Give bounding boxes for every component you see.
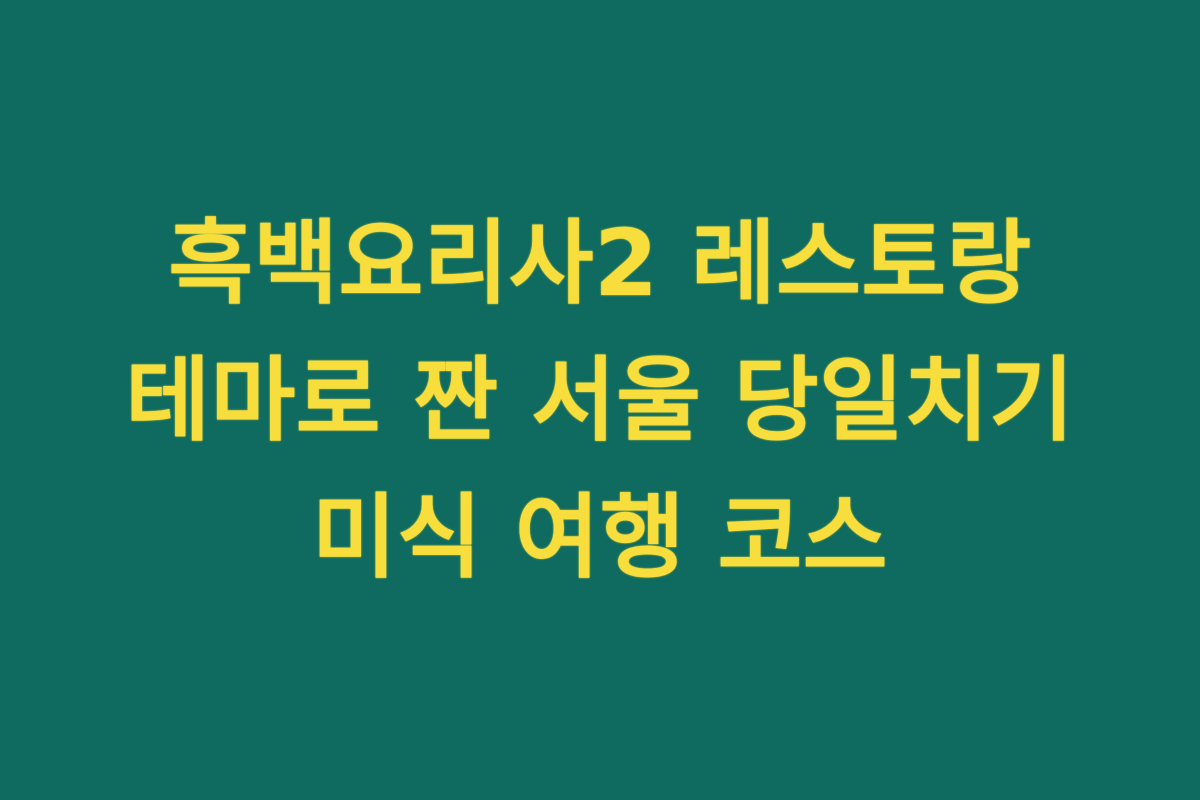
title-line-1: 흑백요리사2 레스토랑 bbox=[24, 195, 1176, 332]
banner-canvas: 흑백요리사2 레스토랑 테마로 짠 서울 당일치기 미식 여행 코스 bbox=[0, 0, 1200, 800]
title-line-2: 테마로 짠 서울 당일치기 bbox=[24, 332, 1176, 469]
title-block: 흑백요리사2 레스토랑 테마로 짠 서울 당일치기 미식 여행 코스 bbox=[0, 195, 1200, 606]
title-line-3: 미식 여행 코스 bbox=[24, 469, 1176, 606]
